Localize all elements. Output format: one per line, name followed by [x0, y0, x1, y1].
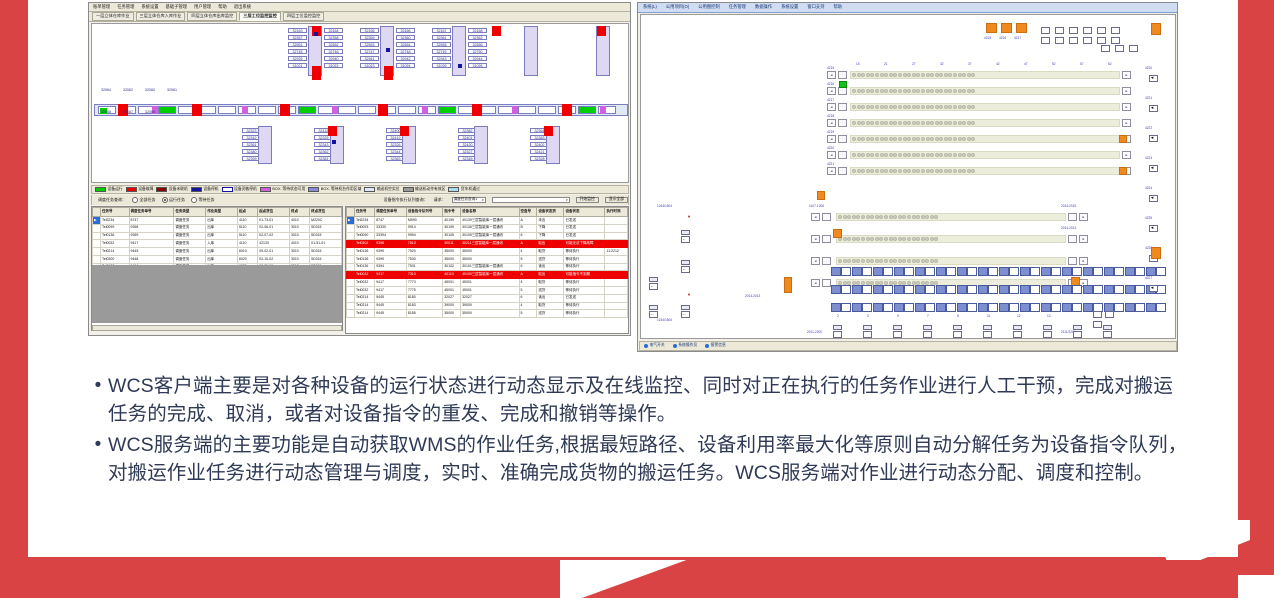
- bc-2-0[interactable]: [831, 303, 841, 312]
- rack-slot-4-26[interactable]: [971, 137, 975, 141]
- bot-agv-top-4[interactable]: [953, 325, 962, 330]
- fr-label-0[interactable]: 4220: [1145, 67, 1152, 70]
- mid-slot-0-14[interactable]: [902, 215, 906, 219]
- kp-0-3[interactable]: [1083, 27, 1092, 34]
- rack-slot-3-26[interactable]: [971, 121, 975, 125]
- mid-slot-0-2[interactable]: [847, 215, 851, 219]
- rack-cell-top-4-0[interactable]: 32167: [432, 28, 451, 33]
- col-header-0[interactable]: [347, 208, 355, 217]
- rack-slot-6-22[interactable]: [953, 169, 957, 173]
- rack-slot-2-8[interactable]: [889, 105, 893, 109]
- wc-0-3[interactable]: [904, 267, 914, 276]
- mid-slot-1-18[interactable]: [921, 237, 925, 241]
- rack-slot-0-2[interactable]: [861, 73, 865, 77]
- menu-item-4[interactable]: 用户管理: [194, 5, 211, 9]
- kp-1-4[interactable]: [1097, 37, 1106, 44]
- rack-slot-3-11[interactable]: [903, 121, 907, 125]
- chevron-down-icon[interactable]: ▾: [482, 199, 484, 202]
- rack-slot-5-3[interactable]: [866, 153, 870, 157]
- col-header-5[interactable]: 起点: [237, 208, 257, 217]
- kp-0-1[interactable]: [1055, 27, 1064, 34]
- fault-marker-3[interactable]: [312, 66, 321, 80]
- mid-slot-2-17[interactable]: [916, 259, 920, 263]
- rack-slot-6-18[interactable]: [935, 169, 939, 173]
- bot-agv-top-5[interactable]: [983, 325, 992, 330]
- bot-agv-top-3[interactable]: [923, 325, 932, 330]
- rack-slot-6-17[interactable]: [930, 169, 934, 173]
- tab-4[interactable]: 四层工位监控监控: [283, 12, 325, 20]
- status-item-0[interactable]: 电气开关: [644, 344, 665, 348]
- col-number-3[interactable]: 32: [940, 63, 944, 66]
- conveyor-fault-3[interactable]: [378, 104, 388, 116]
- bc-1-4[interactable]: [915, 285, 925, 294]
- rack-slot-5-11[interactable]: [903, 153, 907, 157]
- fr-4[interactable]: ◄: [1149, 195, 1158, 202]
- bot-number-1[interactable]: 3: [867, 315, 869, 318]
- conveyor-slot-17[interactable]: [438, 106, 456, 114]
- rack-out-station-5[interactable]: ►: [1122, 151, 1131, 159]
- rack-slot-2-14[interactable]: [916, 105, 920, 109]
- wc-2-1[interactable]: [862, 303, 872, 312]
- bot-agv-5[interactable]: [983, 331, 992, 338]
- bc-2-5[interactable]: [936, 303, 946, 312]
- rack-slot-4-1[interactable]: [857, 137, 861, 141]
- rack-slot-4-23[interactable]: [958, 137, 962, 141]
- fault-marker-4[interactable]: [384, 66, 393, 80]
- rack-slot-2-7[interactable]: [884, 105, 888, 109]
- conveyor-box-3[interactable]: [422, 106, 428, 114]
- kp-0-4[interactable]: [1097, 27, 1106, 34]
- mid-slot-1-14[interactable]: [902, 237, 906, 241]
- bc-0-5[interactable]: [936, 267, 946, 276]
- rack-slot-4-9[interactable]: [893, 137, 897, 141]
- conveyor-slot-15[interactable]: [398, 106, 416, 114]
- mid-slot-0-13[interactable]: [898, 215, 902, 219]
- rack-cell-top-2-1[interactable]: 32359: [360, 35, 379, 40]
- rack-slot-6-2[interactable]: [861, 169, 865, 173]
- rack-slot-4-8[interactable]: [889, 137, 893, 141]
- rack-slot-6-6[interactable]: [880, 169, 884, 173]
- rack-slot-5-1[interactable]: [857, 153, 861, 157]
- rack-slot-1-3[interactable]: [866, 89, 870, 93]
- bot-number-6[interactable]: 12: [1017, 315, 1021, 318]
- col-number-8[interactable]: 57: [1080, 63, 1084, 66]
- rack-slot-5-15[interactable]: [921, 153, 925, 157]
- mid-slot-2-8[interactable]: [875, 259, 879, 263]
- bc-2-2[interactable]: [873, 303, 883, 312]
- rack-slot-2-23[interactable]: [958, 105, 962, 109]
- mid-out-1[interactable]: [1068, 235, 1077, 243]
- mid-slot-1-21[interactable]: [934, 237, 938, 241]
- col-header-6[interactable]: 空盘号: [519, 208, 537, 217]
- task-filter-bar[interactable]: 调度任务查询： 全部任务 运行任务 等待任务 设备指令执行队列查询： 请求： 调…: [91, 195, 629, 205]
- rack-slot-3-6[interactable]: [880, 121, 884, 125]
- kp2-0[interactable]: [1101, 45, 1110, 52]
- mid-code-2[interactable]: 2014-2013: [1061, 227, 1076, 230]
- rack-slot-1-21[interactable]: [948, 89, 952, 93]
- rack-slot-2-25[interactable]: [967, 105, 971, 109]
- mid-slot-1-11[interactable]: [889, 237, 893, 241]
- rack-slot-3-12[interactable]: [907, 121, 911, 125]
- rack-slot-0-1[interactable]: [857, 73, 861, 77]
- rack-slot-3-0[interactable]: [852, 121, 856, 125]
- rack-slot-0-15[interactable]: [921, 73, 925, 77]
- bc-0-6[interactable]: [957, 267, 967, 276]
- mid-slot-1-2[interactable]: [847, 237, 851, 241]
- rack-slot-4-20[interactable]: [944, 137, 948, 141]
- wc-0-9[interactable]: [1030, 267, 1040, 276]
- agv-top-3[interactable]: [649, 305, 658, 310]
- rack-slot-5-13[interactable]: [912, 153, 916, 157]
- agv-4[interactable]: ←: [681, 311, 690, 318]
- rack-cell-top-4-4[interactable]: 32943: [432, 56, 451, 61]
- rack-slot-5-18[interactable]: [935, 153, 939, 157]
- rack-slot-1-8[interactable]: [889, 89, 893, 93]
- rack-slot-6-19[interactable]: [939, 169, 943, 173]
- mid-slot-2-4[interactable]: [856, 259, 860, 263]
- bc-1-0[interactable]: [831, 285, 841, 294]
- menu-item-2[interactable]: 系统设置: [141, 5, 158, 9]
- fr-2[interactable]: ◄: [1149, 135, 1158, 142]
- right-menu-item-6[interactable]: 窗口支持: [807, 5, 824, 9]
- mid-in-3[interactable]: ◄: [811, 279, 820, 287]
- rack-slot-0-5[interactable]: [875, 73, 879, 77]
- bc-1-13[interactable]: [1104, 285, 1114, 294]
- rack-cell-top-5-4[interactable]: 32944: [468, 56, 487, 61]
- radio-icon-2[interactable]: [191, 197, 197, 203]
- mid-slot-0-19[interactable]: [925, 215, 929, 219]
- col-number-7[interactable]: 52: [1052, 63, 1056, 66]
- mid-slot-2-3[interactable]: [852, 259, 856, 263]
- bc-0-2[interactable]: [873, 267, 883, 276]
- device-command-body[interactable]: ▶Tel22348747M9904019940139三层智能库一层通讯A未出已发…: [347, 217, 628, 318]
- conveyor-box-4[interactable]: [512, 106, 518, 114]
- rack-slot-6-15[interactable]: [921, 169, 925, 173]
- rack-in-station-b-4[interactable]: [838, 135, 847, 143]
- mid-slot-2-20[interactable]: [930, 259, 934, 263]
- rack-cell-top-3-3[interactable]: 32748: [396, 49, 415, 54]
- kp-1-5[interactable]: [1111, 37, 1120, 44]
- rack-row-5[interactable]: [850, 151, 1120, 159]
- mid-slot-1-8[interactable]: [875, 237, 879, 241]
- rack-slot-4-7[interactable]: [884, 137, 888, 141]
- fr-label-5[interactable]: 4225: [1145, 217, 1152, 220]
- rack-slot-3-1[interactable]: [857, 121, 861, 125]
- rack-slot-2-3[interactable]: [866, 105, 870, 109]
- wc-0-7[interactable]: [988, 267, 998, 276]
- left-app-menubar[interactable]: 账单管理 任务管理 系统设置 基础子管理 用户管理 帮助 退出系统: [89, 3, 630, 12]
- status-item-2[interactable]: 报警信息: [705, 344, 726, 348]
- col-header-4[interactable]: 作业类型: [206, 208, 238, 217]
- mid-slot-2-5[interactable]: [861, 259, 865, 263]
- bc-0-14[interactable]: [1125, 267, 1135, 276]
- rack-slot-4-6[interactable]: [880, 137, 884, 141]
- bc-2-15[interactable]: [1146, 303, 1156, 312]
- col-number-0[interactable]: 15: [856, 63, 860, 66]
- col-header-3[interactable]: 设备指令队列号: [406, 208, 442, 217]
- rack-slot-1-9[interactable]: [893, 89, 897, 93]
- wc-2-2[interactable]: [883, 303, 893, 312]
- fr-label-4[interactable]: 4224: [1145, 187, 1152, 190]
- table-row[interactable]: Tel0136939475313010230101三层智能库一层通讯6读出等待执…: [347, 263, 628, 271]
- rack-slot-0-11[interactable]: [903, 73, 907, 77]
- wc-0-1[interactable]: [862, 267, 872, 276]
- conveyor-box-2[interactable]: [332, 106, 338, 114]
- rack-slot-1-10[interactable]: [898, 89, 902, 93]
- fault-marker-low-0[interactable]: [328, 126, 337, 136]
- fault-marker-low-1[interactable]: [400, 126, 409, 136]
- rack-slot-6-11[interactable]: [903, 169, 907, 173]
- right-menu-item-5[interactable]: 系统设置: [781, 5, 798, 9]
- fr-1[interactable]: ◄: [1149, 105, 1158, 112]
- rack-slot-1-19[interactable]: [939, 89, 943, 93]
- rack-in-station-0[interactable]: ◄: [827, 71, 836, 79]
- rack-slot-2-0[interactable]: [852, 105, 856, 109]
- kp2-2[interactable]: [1129, 45, 1138, 52]
- bc-2-7[interactable]: [978, 303, 988, 312]
- rack-slot-6-20[interactable]: [944, 169, 948, 173]
- rack-slot-1-1[interactable]: [857, 89, 861, 93]
- mid-in-1[interactable]: ◄: [811, 235, 820, 243]
- mid-slot-0-5[interactable]: [861, 215, 865, 219]
- rack-slot-5-26[interactable]: [971, 153, 975, 157]
- rack-slot-1-15[interactable]: [921, 89, 925, 93]
- col-header-1[interactable]: 任务号: [101, 208, 130, 217]
- col-header-7[interactable]: 终点: [289, 208, 309, 217]
- table-row[interactable]: Tel02149445818535000350005送货等待执行: [347, 310, 628, 318]
- fault-marker-2[interactable]: [597, 26, 606, 36]
- rack-row-label-5[interactable]: 4220: [827, 147, 834, 150]
- wc-2-13[interactable]: [1114, 303, 1124, 312]
- mid-alarm-0[interactable]: [833, 229, 842, 238]
- rack-slot-2-12[interactable]: [907, 105, 911, 109]
- rack-cell-top-3-0[interactable]: 32166: [396, 28, 415, 33]
- mid-slot-2-15[interactable]: [907, 259, 911, 263]
- rack-cell-top-2-4[interactable]: 32941: [360, 56, 379, 61]
- rack-alarm-2[interactable]: [817, 191, 825, 200]
- bc-1-3[interactable]: [894, 285, 904, 294]
- rack-slot-0-25[interactable]: [967, 73, 971, 77]
- rack-row-0[interactable]: [850, 71, 1120, 79]
- bot-agv-7[interactable]: [1043, 331, 1052, 338]
- rack-slot-6-10[interactable]: [898, 169, 902, 173]
- rack-slot-5-20[interactable]: [944, 153, 948, 157]
- rack-slot-3-5[interactable]: [875, 121, 879, 125]
- floor-label-0[interactable]: 32064: [96, 88, 116, 93]
- kp-0-0[interactable]: [1041, 27, 1050, 34]
- conveyor-fault-2[interactable]: [280, 104, 290, 116]
- col-header-5[interactable]: 设备名称: [461, 208, 519, 217]
- wc-1-1[interactable]: [862, 285, 872, 294]
- rack-slot-1-23[interactable]: [958, 89, 962, 93]
- rack-cell-top-3-5[interactable]: 31024: [396, 63, 415, 68]
- kp-1-3[interactable]: [1083, 37, 1092, 44]
- rack-slot-4-18[interactable]: [935, 137, 939, 141]
- fr-label-2[interactable]: 4222: [1145, 127, 1152, 130]
- rack-slot-2-26[interactable]: [971, 105, 975, 109]
- wc-1-4[interactable]: [925, 285, 935, 294]
- rack-slot-2-19[interactable]: [939, 105, 943, 109]
- bot-agv-top-8[interactable]: [1073, 325, 1082, 330]
- table-row[interactable]: Tel00329417调度任务入库411042133401001-51-01: [93, 240, 342, 248]
- rack-slot-5-6[interactable]: [880, 153, 884, 157]
- rack-slot-6-21[interactable]: [948, 169, 952, 173]
- rack-slot-6-25[interactable]: [967, 169, 971, 173]
- right-menu-item-0[interactable]: 系统(L): [643, 5, 657, 9]
- rack-slot-5-21[interactable]: [948, 153, 952, 157]
- bot-number-7[interactable]: 13: [1047, 315, 1051, 318]
- rack-cell-top-1-3[interactable]: 32746: [324, 49, 343, 54]
- bot-agv-top-7[interactable]: [1043, 325, 1052, 330]
- rack-row-6[interactable]: [850, 167, 1120, 175]
- rack-slot-3-25[interactable]: [967, 121, 971, 125]
- tab-1[interactable]: 三层立体仓库入库作业: [136, 12, 186, 20]
- rack-slot-0-21[interactable]: [948, 73, 952, 77]
- wc-0-13[interactable]: [1114, 267, 1124, 276]
- bc-1-1[interactable]: [852, 285, 862, 294]
- agv-1[interactable]: ←: [681, 266, 690, 273]
- rack-slot-0-3[interactable]: [866, 73, 870, 77]
- right-menu-item-3[interactable]: 任务管理: [729, 5, 746, 9]
- table-row[interactable]: Tel02149445818339000390004取货等待执行: [347, 302, 628, 310]
- mid-slot-1-20[interactable]: [930, 237, 934, 241]
- mid-slot-1-7[interactable]: [870, 237, 874, 241]
- bot-agv-6[interactable]: [1013, 331, 1022, 338]
- bc-1-6[interactable]: [957, 285, 967, 294]
- device-command-grid[interactable]: 任务号调度任务单号设备指令队列号指令号设备名称空盘号设备状态页设备状态执行时间 …: [345, 206, 629, 334]
- rack-slot-3-2[interactable]: [861, 121, 865, 125]
- rack-row-2[interactable]: [850, 103, 1120, 111]
- floor-label-5[interactable]: 32067: [118, 110, 138, 115]
- wc-1-9[interactable]: [1030, 285, 1040, 294]
- mid-slot-0-11[interactable]: [889, 215, 893, 219]
- bc-0-15[interactable]: [1146, 267, 1156, 276]
- mid-slot-2-16[interactable]: [912, 259, 916, 263]
- table-row[interactable]: Tel00933333099143019930136三层智能库一层通讯B下降已发…: [347, 224, 628, 232]
- rack-cell-top-3-1[interactable]: 32360: [396, 35, 415, 40]
- rack-slot-2-1[interactable]: [857, 105, 861, 109]
- rack-cell-top-1-2[interactable]: 32552: [324, 42, 343, 47]
- rack-slot-0-24[interactable]: [962, 73, 966, 77]
- rack-slot-3-4[interactable]: [870, 121, 874, 125]
- agv-dir-1[interactable]: ▼: [687, 293, 691, 297]
- rack-alarm-0[interactable]: [1119, 135, 1127, 143]
- conveyor-slot-10[interactable]: [298, 106, 316, 114]
- bot-agv-9[interactable]: [1103, 331, 1112, 338]
- bot-number-5[interactable]: 11: [987, 315, 990, 318]
- rack-slot-3-3[interactable]: [866, 121, 870, 125]
- rack-cell-top-2-5[interactable]: 31023: [360, 63, 379, 68]
- wc-1-0[interactable]: [841, 285, 851, 294]
- rack-slot-1-11[interactable]: [903, 89, 907, 93]
- rack-slot-5-23[interactable]: [958, 153, 962, 157]
- rack-in-station-6[interactable]: ◄: [827, 167, 836, 175]
- rack-slot-0-8[interactable]: [889, 73, 893, 77]
- rack-slot-3-14[interactable]: [916, 121, 920, 125]
- rack-slot-1-17[interactable]: [930, 89, 934, 93]
- wc-1-6[interactable]: [967, 285, 977, 294]
- wc-1-3[interactable]: [904, 285, 914, 294]
- rack-cell-top-1-4[interactable]: 32940: [324, 56, 343, 61]
- bot-agv-4[interactable]: [953, 331, 962, 338]
- rack-slot-3-13[interactable]: [912, 121, 916, 125]
- bot-number-2[interactable]: 5: [897, 315, 899, 318]
- conveyor-fault-5[interactable]: [562, 104, 572, 116]
- col-header-2[interactable]: 调度任务单号: [129, 208, 174, 217]
- stopped-marker-low-0[interactable]: [332, 140, 336, 144]
- conveyor-block-1[interactable]: [1001, 23, 1012, 33]
- conveyor-slot-24[interactable]: [578, 106, 596, 114]
- mid-slot-0-15[interactable]: [907, 215, 911, 219]
- col-header-9[interactable]: 执行时间: [605, 208, 628, 217]
- bc-2-4[interactable]: [915, 303, 925, 312]
- bot-number-3[interactable]: 7: [927, 315, 929, 318]
- rack-out-station-3[interactable]: ►: [1122, 119, 1131, 127]
- rack-slot-2-11[interactable]: [903, 105, 907, 109]
- rack-slot-1-25[interactable]: [967, 89, 971, 93]
- bot-agv-top-6[interactable]: [1013, 325, 1022, 330]
- rack-slot-1-5[interactable]: [875, 89, 879, 93]
- radio-option-0[interactable]: 全部任务: [132, 197, 156, 203]
- col-number-5[interactable]: 42: [996, 63, 1000, 66]
- mid-slot-2-19[interactable]: [925, 259, 929, 263]
- rack-slot-6-8[interactable]: [889, 169, 893, 173]
- rack-cell-top-3-2[interactable]: 32554: [396, 42, 415, 47]
- bc-1-8[interactable]: [999, 285, 1009, 294]
- wc-2-8[interactable]: [1009, 303, 1019, 312]
- mid-slot-1-16[interactable]: [912, 237, 916, 241]
- conveyor-box-1[interactable]: [242, 106, 248, 114]
- agv-dir-0[interactable]: ▼: [687, 215, 691, 219]
- rack-slot-2-13[interactable]: [912, 105, 916, 109]
- conveyor-slot-21[interactable]: [518, 106, 536, 114]
- left-grid-scrollbar[interactable]: [92, 325, 342, 331]
- rack-cell-top-5-3[interactable]: 32750: [468, 49, 487, 54]
- rack-slot-2-24[interactable]: [962, 105, 966, 109]
- rack-slot-2-18[interactable]: [935, 105, 939, 109]
- mid-slot-1-3[interactable]: [852, 237, 856, 241]
- rack-slot-0-23[interactable]: [958, 73, 962, 77]
- fr-label-3[interactable]: 4223: [1145, 157, 1152, 160]
- col-header-4[interactable]: 指令号: [443, 208, 461, 217]
- bc-2-8[interactable]: [999, 303, 1009, 312]
- kp2-1[interactable]: [1115, 45, 1124, 52]
- stopped-marker-0[interactable]: [314, 32, 318, 36]
- mid-in-b-1[interactable]: [822, 235, 831, 243]
- conveyor-block-2[interactable]: [1016, 23, 1027, 33]
- conveyor-block-0[interactable]: [986, 23, 997, 33]
- table-row[interactable]: Tel02149445调度任务出库601009-02-0130105D315: [93, 248, 342, 256]
- bc-1-9[interactable]: [1020, 285, 1030, 294]
- table-row[interactable]: Tel00329417777545001450015送货等待执行: [347, 287, 628, 295]
- agv-top-0[interactable]: [681, 230, 690, 235]
- rack-slot-4-14[interactable]: [916, 137, 920, 141]
- rack-cell-top-0-4[interactable]: 32939: [288, 56, 307, 61]
- conveyor-slot-13[interactable]: [358, 106, 376, 114]
- mid-slot-1-9[interactable]: [879, 237, 883, 241]
- table-row[interactable]: Tel01369399调度任务出库511002-07-0230105D315: [93, 232, 342, 240]
- rack-slot-6-0[interactable]: [852, 169, 856, 173]
- kp-0-2[interactable]: [1069, 27, 1078, 34]
- mid-slot-1-19[interactable]: [925, 237, 929, 241]
- rack-slot-2-4[interactable]: [870, 105, 874, 109]
- mid-slot-0-8[interactable]: [875, 215, 879, 219]
- col-header-1[interactable]: 任务号: [355, 208, 375, 217]
- bc-1-7[interactable]: [978, 285, 988, 294]
- agv-code-0[interactable]: 1244/1504: [657, 205, 672, 208]
- rack-slot-3-22[interactable]: [953, 121, 957, 125]
- wc-1-10[interactable]: [1051, 285, 1061, 294]
